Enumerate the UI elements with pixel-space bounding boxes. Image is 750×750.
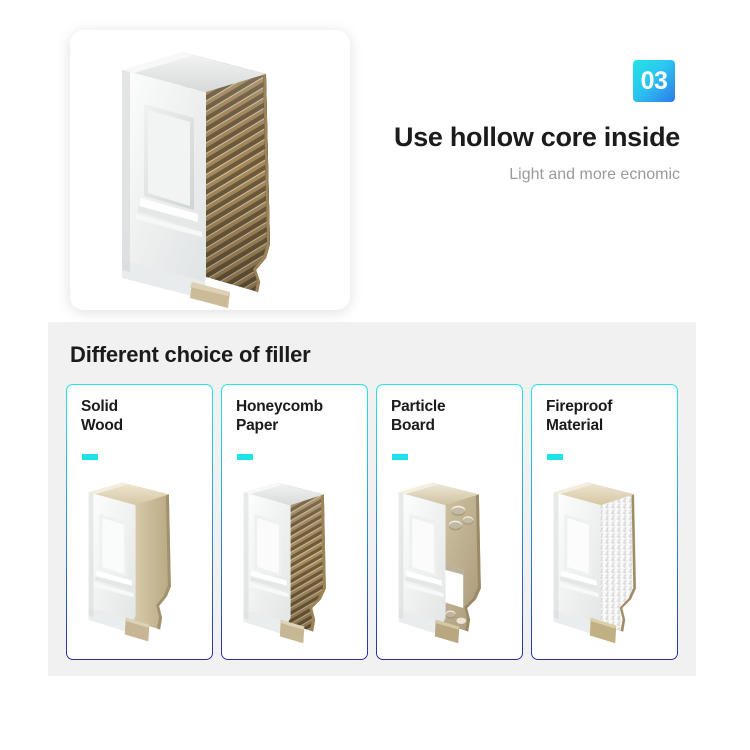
accent-dash [82, 454, 98, 460]
filler-section-title: Different choice of filler [70, 342, 311, 368]
filler-card-title-line1: Solid [81, 398, 118, 415]
hero-subtitle: Light and more ecnomic [380, 166, 680, 184]
hero-title: Use hollow core inside [380, 122, 680, 153]
filler-options-panel: Different choice of filler Solid Wood [48, 322, 696, 676]
filler-card-title-line2: Paper [236, 417, 278, 434]
filler-card-title-line1: Particle [391, 398, 445, 415]
honeycomb-paper-core-door-cross-section-illustration [222, 467, 367, 653]
accent-dash [237, 454, 253, 460]
filler-card-solid-wood[interactable]: Solid Wood [66, 384, 213, 660]
filler-card-fireproof-material[interactable]: Fireproof Material [531, 384, 678, 660]
filler-card-title: Honeycomb Paper [236, 397, 323, 436]
step-number-badge: 03 [633, 60, 675, 102]
filler-card-title: Fireproof Material [546, 397, 612, 436]
filler-card-title-line2: Material [546, 417, 603, 434]
page-root: 03 Use hollow core inside Light and more… [0, 0, 750, 750]
accent-dash [392, 454, 408, 460]
accent-dash [547, 454, 563, 460]
hero-product-image-card [70, 30, 350, 310]
hero-text-block: 03 Use hollow core inside Light and more… [380, 60, 680, 184]
filler-card-title: Particle Board [391, 397, 445, 436]
filler-card-particle-board[interactable]: Particle Board [376, 384, 523, 660]
fireproof-material-core-door-cross-section-illustration [532, 467, 677, 653]
filler-card-list: Solid Wood [66, 384, 678, 660]
filler-card-title-line2: Board [391, 417, 435, 434]
solid-wood-core-door-cross-section-illustration [67, 467, 212, 653]
filler-card-title: Solid Wood [81, 397, 123, 436]
honeycomb-core-door-cross-section-illustration [70, 30, 350, 310]
particle-board-core-door-cross-section-illustration [377, 467, 522, 653]
filler-card-title-line1: Fireproof [546, 398, 612, 415]
filler-card-title-line2: Wood [81, 417, 123, 434]
filler-card-title-line1: Honeycomb [236, 398, 323, 415]
filler-card-honeycomb-paper[interactable]: Honeycomb Paper [221, 384, 368, 660]
